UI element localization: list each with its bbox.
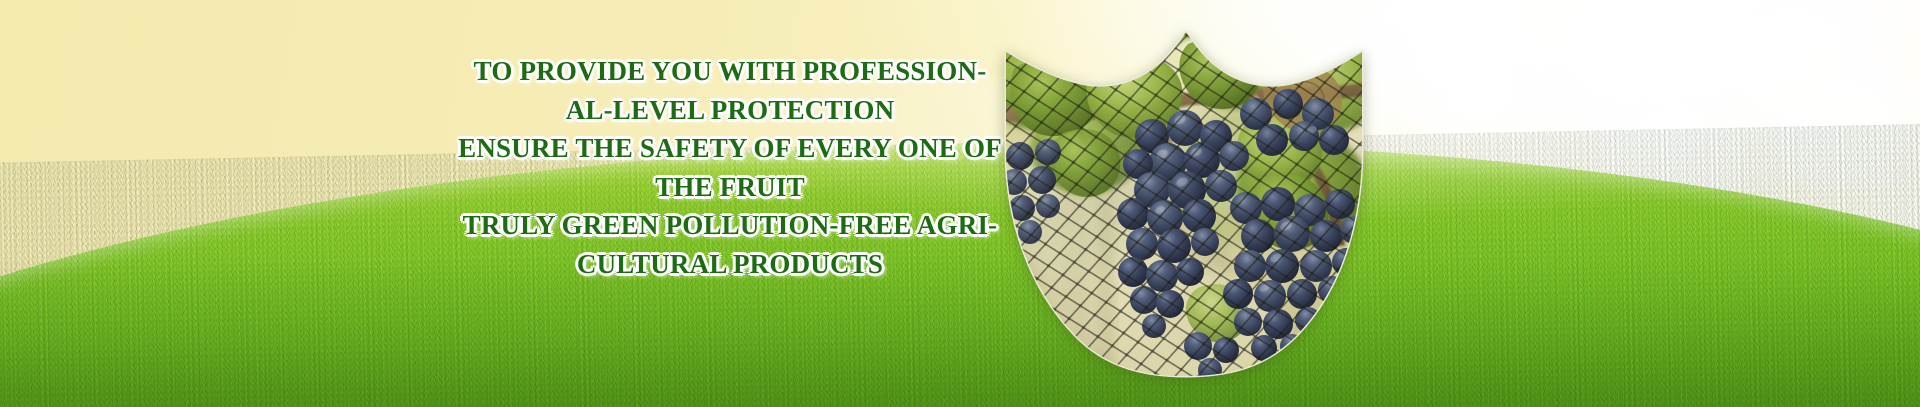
promo-banner: TO PROVIDE YOU WITH PROFESSION- AL-LEVEL… [0,0,1920,407]
shield-photo [1002,28,1366,380]
headline-line-5: TRULY GREEN POLLUTION-FREE AGRI- [410,206,1050,245]
headline-line-3: ENSURE THE SAFETY OF EVERY ONE OF [410,129,1050,168]
shield-emblem [1002,28,1366,380]
headline-line-6: CULTURAL PRODUCTS [410,245,1050,284]
headline-line-4: THE FRUIT [410,168,1050,207]
headline-line-1: TO PROVIDE YOU WITH PROFESSION- [410,52,1050,91]
headline-line-2: AL-LEVEL PROTECTION [410,91,1050,130]
headline-block: TO PROVIDE YOU WITH PROFESSION- AL-LEVEL… [410,52,1050,283]
